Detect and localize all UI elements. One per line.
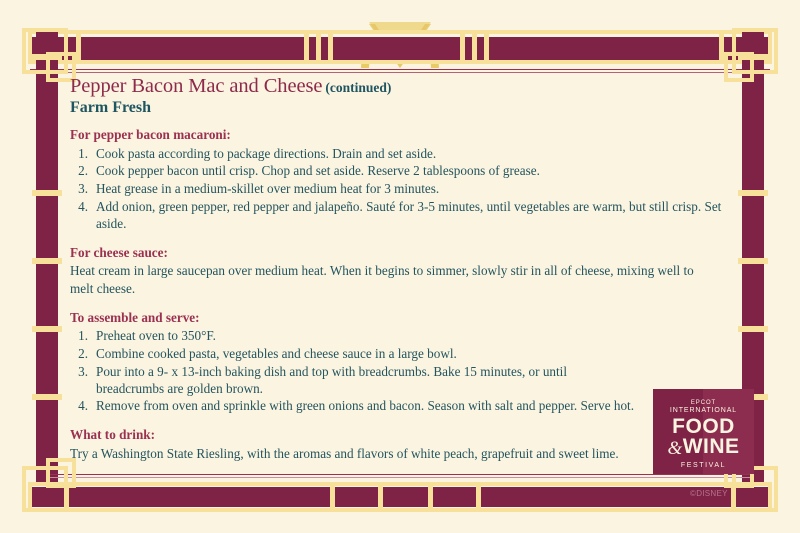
list-item: 4. Remove from oven and sprinkle with gr… bbox=[70, 397, 676, 414]
bottom-band-divider bbox=[330, 482, 335, 512]
step-number: 2. bbox=[72, 345, 88, 362]
left-bar-divider bbox=[32, 258, 62, 264]
section-heading-cheese-sauce: For cheese sauce: bbox=[70, 245, 730, 262]
left-bar-divider bbox=[32, 190, 62, 196]
top-band-divider bbox=[460, 30, 465, 64]
top-border-band bbox=[28, 30, 772, 64]
corner-ornament-bottom-left bbox=[22, 458, 76, 512]
logo-international-text: INTERNATIONAL bbox=[653, 407, 754, 415]
logo-ampersand: & bbox=[667, 438, 682, 459]
step-number: 1. bbox=[72, 327, 88, 344]
left-border-bar bbox=[32, 30, 62, 512]
step-number: 1. bbox=[72, 145, 88, 162]
top-band-divider bbox=[328, 30, 333, 64]
left-bar-divider bbox=[32, 326, 62, 332]
bottom-band-divider bbox=[476, 482, 481, 512]
section-heading-what-to-drink: What to drink: bbox=[70, 427, 730, 444]
top-band-divider bbox=[484, 30, 489, 64]
list-item: 2. Cook pepper bacon until crisp. Chop a… bbox=[70, 162, 730, 179]
logo-wine-line: &WINE bbox=[653, 437, 754, 458]
bottom-rule-line bbox=[48, 474, 754, 475]
list-item: 1. Cook pasta according to package direc… bbox=[70, 145, 730, 162]
step-text: Add onion, green pepper, red pepper and … bbox=[96, 199, 721, 231]
bottom-band-divider bbox=[378, 482, 383, 512]
bottom-border-band bbox=[28, 482, 772, 512]
bottom-band-divider bbox=[428, 482, 433, 512]
list-item: 3. Heat grease in a medium-skillet over … bbox=[70, 180, 730, 197]
section-paragraph-cheese-sauce: Heat cream in large saucepan over medium… bbox=[70, 262, 715, 296]
copyright-notice: ©DISNEY bbox=[690, 489, 728, 498]
step-text: Heat grease in a medium-skillet over med… bbox=[96, 181, 439, 196]
logo-wine-text: WINE bbox=[683, 435, 740, 458]
page-title: Pepper Bacon Mac and Cheese bbox=[70, 75, 322, 97]
bottom-band-fill bbox=[32, 487, 768, 507]
recipe-title-line: Pepper Bacon Mac and Cheese(continued) bbox=[70, 76, 730, 98]
recipe-content: Pepper Bacon Mac and Cheese(continued) F… bbox=[70, 76, 730, 468]
step-number: 2. bbox=[72, 162, 88, 179]
step-text: Remove from oven and sprinkle with green… bbox=[96, 398, 634, 413]
section-paragraph-what-to-drink: Try a Washington State Riesling, with th… bbox=[70, 445, 625, 462]
step-number: 4. bbox=[72, 198, 88, 215]
top-band-divider bbox=[316, 30, 321, 64]
right-bar-divider bbox=[738, 190, 768, 196]
list-item: 1. Preheat oven to 350°F. bbox=[70, 327, 730, 344]
step-text: Cook pasta according to package directio… bbox=[96, 146, 436, 161]
recipe-card: Pepper Bacon Mac and Cheese(continued) F… bbox=[0, 0, 800, 533]
logo-text-block: EPCOT INTERNATIONAL FOOD &WINE FESTIVAL bbox=[653, 389, 754, 474]
top-rule-line bbox=[30, 69, 770, 70]
recipe-subtitle: Farm Fresh bbox=[70, 99, 730, 117]
list-item: 4. Add onion, green pepper, red pepper a… bbox=[70, 198, 730, 232]
logo-festival-text: FESTIVAL bbox=[653, 462, 754, 469]
top-band-divider bbox=[304, 30, 309, 64]
list-item: 2. Combine cooked pasta, vegetables and … bbox=[70, 345, 730, 362]
step-text: Combine cooked pasta, vegetables and che… bbox=[96, 346, 457, 361]
top-band-divider bbox=[76, 30, 81, 64]
corner-ornament-top-right bbox=[724, 28, 778, 82]
section-heading-assemble: To assemble and serve: bbox=[70, 310, 730, 327]
step-text: Preheat oven to 350°F. bbox=[96, 328, 216, 343]
left-bar-fill bbox=[36, 30, 58, 512]
corner-ornament-top-left bbox=[22, 28, 76, 82]
top-band-fill bbox=[32, 37, 768, 60]
bottom-rule-line-secondary bbox=[48, 477, 754, 478]
step-text: Cook pepper bacon until crisp. Chop and … bbox=[96, 163, 540, 178]
left-bar-divider bbox=[32, 394, 62, 400]
step-number: 4. bbox=[72, 397, 88, 414]
step-number: 3. bbox=[72, 363, 88, 380]
section-heading-macaroni: For pepper bacon macaroni: bbox=[70, 127, 730, 144]
step-number: 3. bbox=[72, 180, 88, 197]
food-and-wine-festival-logo: EPCOT INTERNATIONAL FOOD &WINE FESTIVAL bbox=[653, 389, 754, 474]
list-item: 3. Pour into a 9- x 13-inch baking dish … bbox=[70, 363, 616, 397]
right-bar-divider bbox=[738, 326, 768, 332]
top-rule-line-secondary bbox=[30, 72, 770, 73]
right-bar-divider bbox=[738, 258, 768, 264]
step-text: Pour into a 9- x 13-inch baking dish and… bbox=[96, 364, 567, 396]
title-continued-note: (continued) bbox=[325, 80, 391, 95]
steps-list-macaroni: 1. Cook pasta according to package direc… bbox=[70, 145, 730, 232]
top-band-divider bbox=[472, 30, 477, 64]
steps-list-assemble: 1. Preheat oven to 350°F. 2. Combine coo… bbox=[70, 327, 730, 414]
logo-food-text: FOOD bbox=[653, 417, 754, 437]
logo-epcot-text: EPCOT bbox=[653, 399, 754, 407]
